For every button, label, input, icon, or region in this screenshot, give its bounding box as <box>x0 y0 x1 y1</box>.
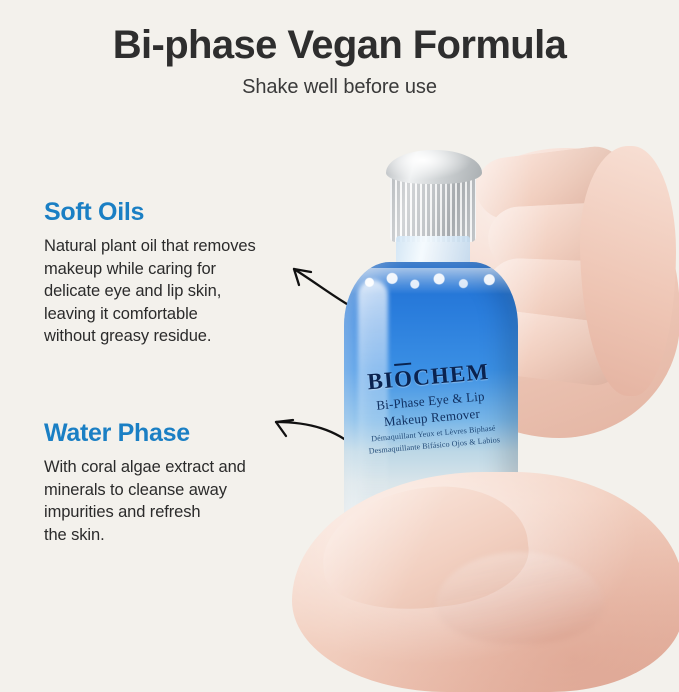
brand-part-one: BI <box>366 367 395 394</box>
bottle-label-top: BIOCHEM Bi-Phase Eye & Lip Makeup Remove… <box>341 357 522 458</box>
feature-heading-water-phase: Water Phase <box>44 419 312 448</box>
header: Bi-phase Vegan Formula Shake well before… <box>0 24 679 99</box>
feature-body-line: leaving it comfortable <box>44 303 312 326</box>
feature-body-soft-oils: Natural plant oil that removes makeup wh… <box>44 235 312 348</box>
feature-block-water-phase: Water Phase With coral algae extract and… <box>44 419 312 546</box>
feature-heading-soft-oils: Soft Oils <box>44 198 312 227</box>
feature-body-line: without greasy residue. <box>44 325 312 348</box>
feature-body-line: minerals to cleanse away <box>44 479 312 502</box>
feature-body-line: delicate eye and lip skin, <box>44 280 312 303</box>
feature-body-line: Natural plant oil that removes <box>44 235 312 258</box>
infographic-canvas: Bi-phase Vegan Formula Shake well before… <box>0 0 679 679</box>
feature-body-line: With coral algae extract and <box>44 456 312 479</box>
feature-block-soft-oils: Soft Oils Natural plant oil that removes… <box>44 198 312 348</box>
page-subtitle: Shake well before use <box>0 76 679 99</box>
product-photo: BIOCHEM Bi-Phase Eye & Lip Makeup Remove… <box>300 120 679 679</box>
page-title: Bi-phase Vegan Formula <box>0 24 679 67</box>
bottle-cap-top <box>386 150 482 184</box>
brand-part-two: CHEM <box>412 359 490 391</box>
feature-body-line: makeup while caring for <box>44 258 312 281</box>
brand-macron-letter: O <box>393 365 414 392</box>
feature-body-line: impurities and refresh <box>44 501 312 524</box>
feature-body-line: the skin. <box>44 524 312 547</box>
feature-body-water-phase: With coral algae extract and minerals to… <box>44 456 312 546</box>
liquid-foam <box>350 268 512 294</box>
